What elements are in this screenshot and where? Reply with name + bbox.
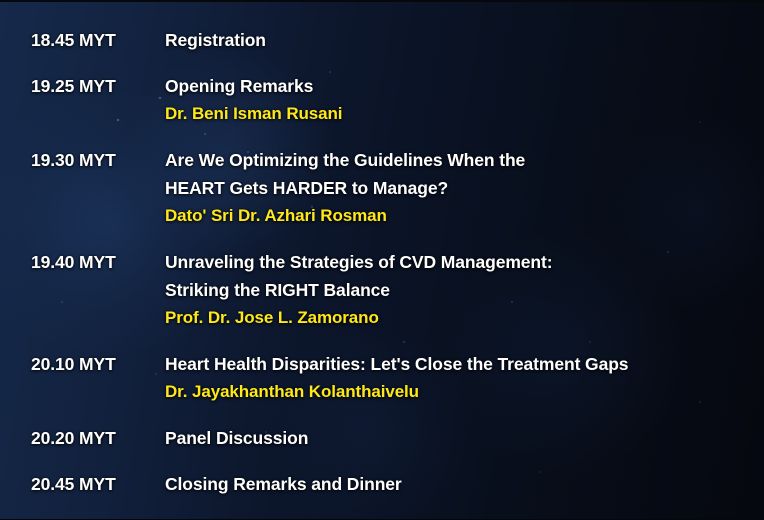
agenda-row-title-line: Registration [165,26,754,54]
agenda-list: 18.45 MYTRegistration19.25 MYTOpening Re… [0,2,764,498]
agenda-row-title-line: Heart Health Disparities: Let's Close th… [165,350,754,378]
agenda-row-speaker: Dr. Jayakhanthan Kolanthaivelu [165,378,754,406]
agenda-row-body: Closing Remarks and Dinner [165,470,754,498]
agenda-row: 19.30 MYTAre We Optimizing the Guideline… [0,146,764,230]
agenda-row-title-line: Striking the RIGHT Balance [165,276,754,304]
agenda-row-body: Heart Health Disparities: Let's Close th… [165,350,754,406]
agenda-row: 20.10 MYTHeart Health Disparities: Let's… [0,350,764,406]
agenda-row: 20.20 MYTPanel Discussion [0,424,764,452]
agenda-row: 19.25 MYTOpening RemarksDr. Beni Isman R… [0,72,764,128]
agenda-row-time: 20.10 MYT [31,350,165,378]
agenda-slide: 18.45 MYTRegistration19.25 MYTOpening Re… [0,0,764,520]
agenda-row-title-line: Panel Discussion [165,424,754,452]
agenda-row-title-line: Closing Remarks and Dinner [165,470,754,498]
agenda-row-speaker: Dr. Beni Isman Rusani [165,100,754,128]
agenda-row-time: 19.25 MYT [31,72,165,100]
agenda-row-body: Opening RemarksDr. Beni Isman Rusani [165,72,754,128]
agenda-row-speaker: Dato' Sri Dr. Azhari Rosman [165,202,754,230]
agenda-row-time: 18.45 MYT [31,26,165,54]
agenda-row-time: 19.30 MYT [31,146,165,174]
agenda-row-body: Registration [165,26,754,54]
agenda-row: 19.40 MYTUnraveling the Strategies of CV… [0,248,764,332]
agenda-row: 20.45 MYTClosing Remarks and Dinner [0,470,764,498]
agenda-row-time: 20.45 MYT [31,470,165,498]
agenda-row-title-line: Unraveling the Strategies of CVD Managem… [165,248,754,276]
agenda-row-title-line: Are We Optimizing the Guidelines When th… [165,146,754,174]
agenda-row-title-line: Opening Remarks [165,72,754,100]
agenda-row-body: Are We Optimizing the Guidelines When th… [165,146,754,230]
agenda-row-title-line: HEART Gets HARDER to Manage? [165,174,754,202]
agenda-row-time: 19.40 MYT [31,248,165,276]
agenda-row-speaker: Prof. Dr. Jose L. Zamorano [165,304,754,332]
agenda-row-body: Panel Discussion [165,424,754,452]
agenda-row: 18.45 MYTRegistration [0,26,764,54]
agenda-row-body: Unraveling the Strategies of CVD Managem… [165,248,754,332]
agenda-row-time: 20.20 MYT [31,424,165,452]
